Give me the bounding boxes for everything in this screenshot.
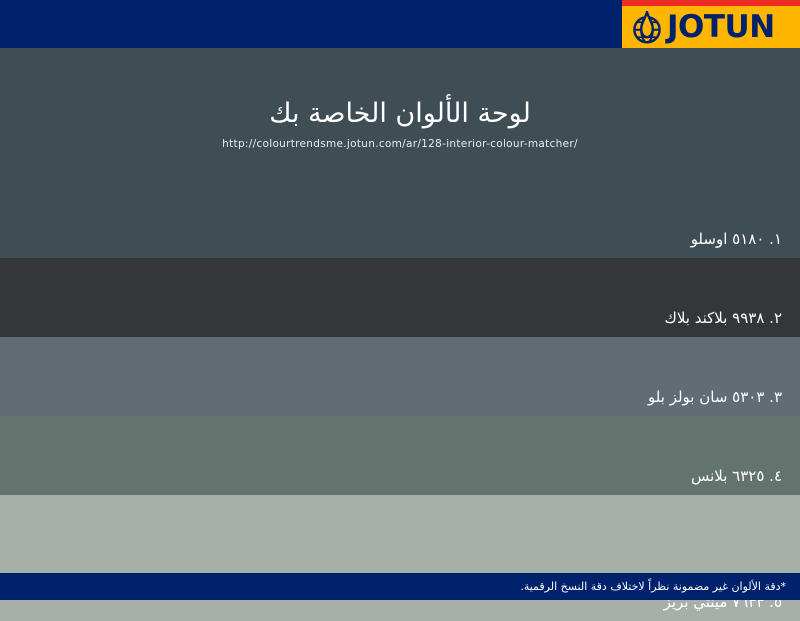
hero-section: لوحة الألوان الخاصة بك http://colourtren…	[0, 48, 800, 218]
palette-swatch-row[interactable]: ٢. ٩٩٣٨ بلاكند بلاك	[0, 258, 800, 337]
app-footer: *دقة الألوان غير مضمونة نظراً لاختلاف دق…	[0, 573, 800, 600]
app-header: JOTUN	[0, 0, 800, 48]
jotun-logo-block[interactable]: JOTUN	[622, 0, 800, 48]
logo-inner: JOTUN	[622, 6, 800, 48]
palette-swatch-row[interactable]: ٣. ٥٣٠٣ سان بولز بلو	[0, 337, 800, 416]
page-title: لوحة الألوان الخاصة بك	[0, 98, 800, 129]
palette-swatch-label: ١. ٥١٨٠ اوسلو	[691, 230, 782, 248]
palette-swatch-row[interactable]: ٤. ٦٣٢٥ بلانس	[0, 416, 800, 495]
palette-source-url[interactable]: http://colourtrendsme.jotun.com/ar/128-i…	[0, 138, 800, 150]
colour-accuracy-disclaimer: *دقة الألوان غير مضمونة نظراً لاختلاف دق…	[520, 573, 786, 600]
palette-swatch-label: ٢. ٩٩٣٨ بلاكند بلاك	[664, 309, 782, 327]
palette-swatch-label: ٣. ٥٣٠٣ سان بولز بلو	[648, 388, 782, 406]
jotun-wordmark: JOTUN	[667, 12, 775, 43]
colour-palette-page: JOTUN ١. ٥١٨٠ اوسلو ٢. ٩٩٣٨ بلاكند بلاك …	[0, 0, 800, 600]
palette-swatch-row[interactable]: ٥. ٧٦٣٣ مينتي بريز	[0, 495, 800, 621]
palette-swatch-label: ٤. ٦٣٢٥ بلانس	[691, 467, 782, 485]
jotun-globe-droplet-icon	[630, 10, 664, 44]
